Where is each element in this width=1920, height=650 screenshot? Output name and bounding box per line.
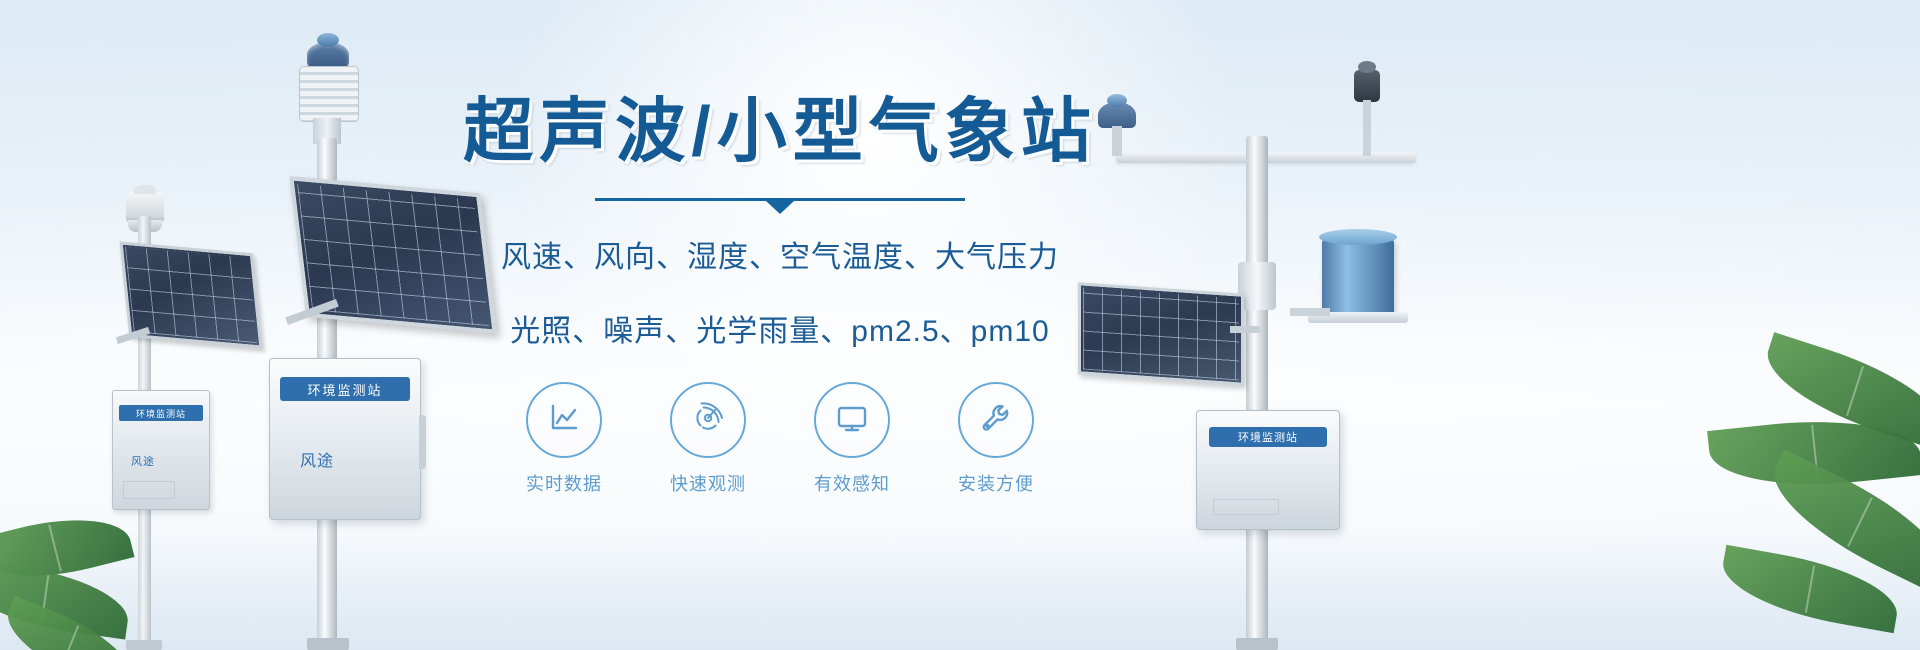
camera-stem [1363,100,1371,156]
weather-station-pole-mounted: 环境监测站 [1070,40,1490,650]
feature-list: 实时数据 快速观测 [430,382,1130,496]
radiation-shield-stack [299,66,359,122]
feature-label: 有效感知 [802,470,902,496]
mast-pole [1246,136,1268,650]
cabinet-label-text: 环境监测站 [136,407,186,420]
pole-base [307,638,349,650]
banner-text-block: 超声波/小型气象站 风速、风向、湿度、空气温度、大气压力 光照、噪声、光学雨量、… [430,96,1130,516]
panel-support-arm [1230,326,1260,333]
feature-icon-circle [526,382,602,458]
feature-item-fast-observation[interactable]: 快速观测 [658,382,758,496]
monitor-screen-icon [832,398,872,443]
feature-label: 快速观测 [658,470,758,496]
cabinet-vent [1213,499,1279,515]
radar-observation-icon [688,398,728,443]
foliage-left [0,460,230,650]
pole-base [1236,638,1278,650]
cabinet-label-plate: 环境监测站 [1209,427,1327,447]
cabinet-label-plate: 环境监测站 [280,377,410,401]
title-divider [595,196,965,210]
cabinet-door-edge [419,415,426,469]
rain-gauge-icon [1322,238,1394,316]
subtitle-line-1: 风速、风向、湿度、空气温度、大气压力 [430,232,1130,284]
feature-label: 实时数据 [514,470,614,496]
cabinet-label-plate: 环境监测站 [119,405,203,421]
feature-icon-circle [814,382,890,458]
page-title: 超声波/小型气象站 [430,96,1130,166]
feature-icon-circle [670,382,746,458]
cabinet-label-text: 环境监测站 [307,380,382,399]
wrench-tool-icon [976,398,1016,443]
foliage-right [1610,350,1920,650]
feature-item-realtime-data[interactable]: 实时数据 [514,382,614,496]
line-chart-icon [544,398,584,443]
divider-triangle-icon [766,201,794,214]
feature-item-easy-install[interactable]: 安装方便 [946,382,1046,496]
rain-gauge-arm [1290,308,1330,316]
control-cabinet: 环境监测站 风途 [269,358,421,520]
solar-panel [1078,282,1244,386]
brand-logo: 风途 [300,447,334,471]
feature-label: 安装方便 [946,470,1046,496]
feature-icon-circle [958,382,1034,458]
sensor-stem [1112,126,1122,156]
ultrasonic-sensor-icon [307,42,349,68]
ultrasonic-sensor-icon [1098,102,1136,128]
control-cabinet: 环境监测站 [1196,410,1340,530]
cabinet-label-text: 环境监测站 [1238,429,1298,445]
camera-sensor-icon [1354,70,1380,102]
subtitle-line-2: 光照、噪声、光学雨量、pm2.5、pm10 [430,306,1130,358]
product-banner: 环境监测站 风途 环境监测站 风途 超声波/小型气象站 风速、风向、湿度 [0,0,1920,650]
feature-item-effective-sensing[interactable]: 有效感知 [802,382,902,496]
